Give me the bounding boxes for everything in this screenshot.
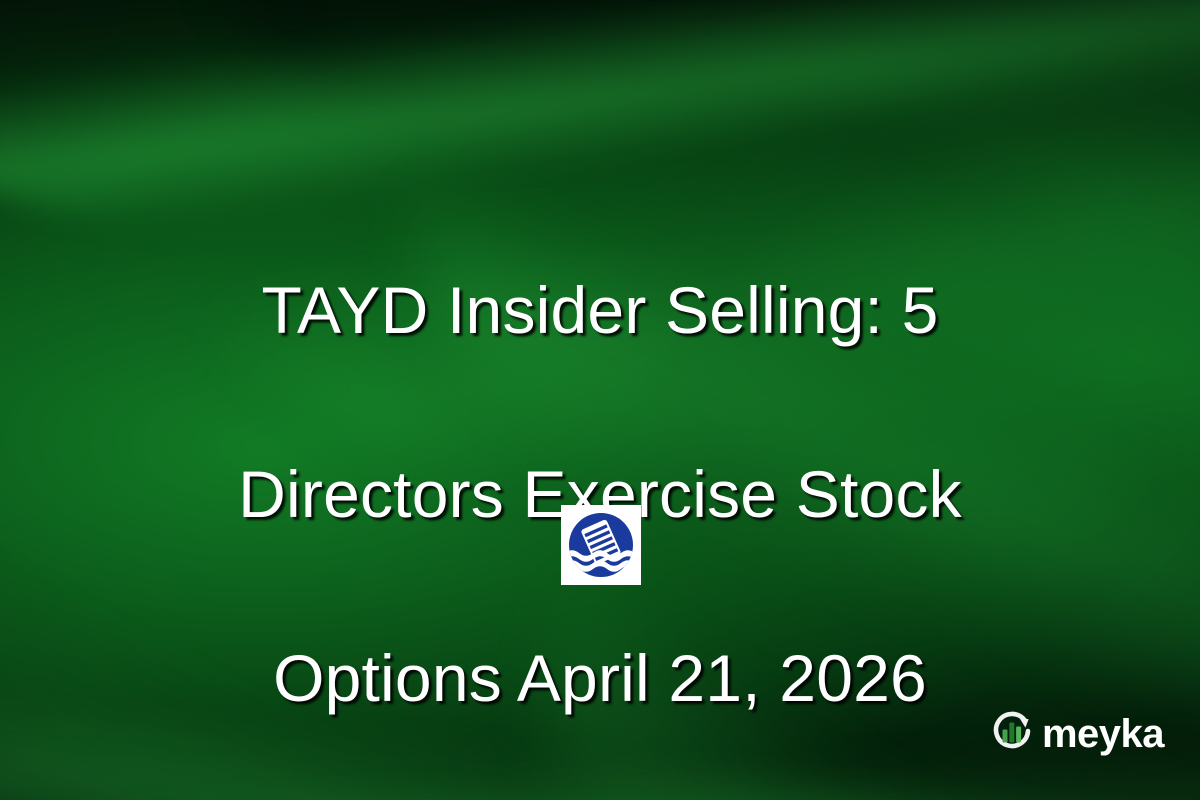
taylor-devices-logo-icon <box>565 509 637 581</box>
headline-line-1: TAYD Insider Selling: 5 <box>60 264 1140 356</box>
headline-line-3: Options April 21, 2026 <box>60 632 1140 724</box>
brand-watermark[interactable]: meyka <box>988 707 1164 760</box>
share-card: TAYD Insider Selling: 5 Directors Exerci… <box>0 0 1200 800</box>
headline: TAYD Insider Selling: 5 Directors Exerci… <box>60 172 1140 800</box>
brand-name: meyka <box>1042 714 1164 754</box>
meyka-ring-bars-icon <box>988 707 1036 760</box>
company-logo <box>561 505 641 585</box>
